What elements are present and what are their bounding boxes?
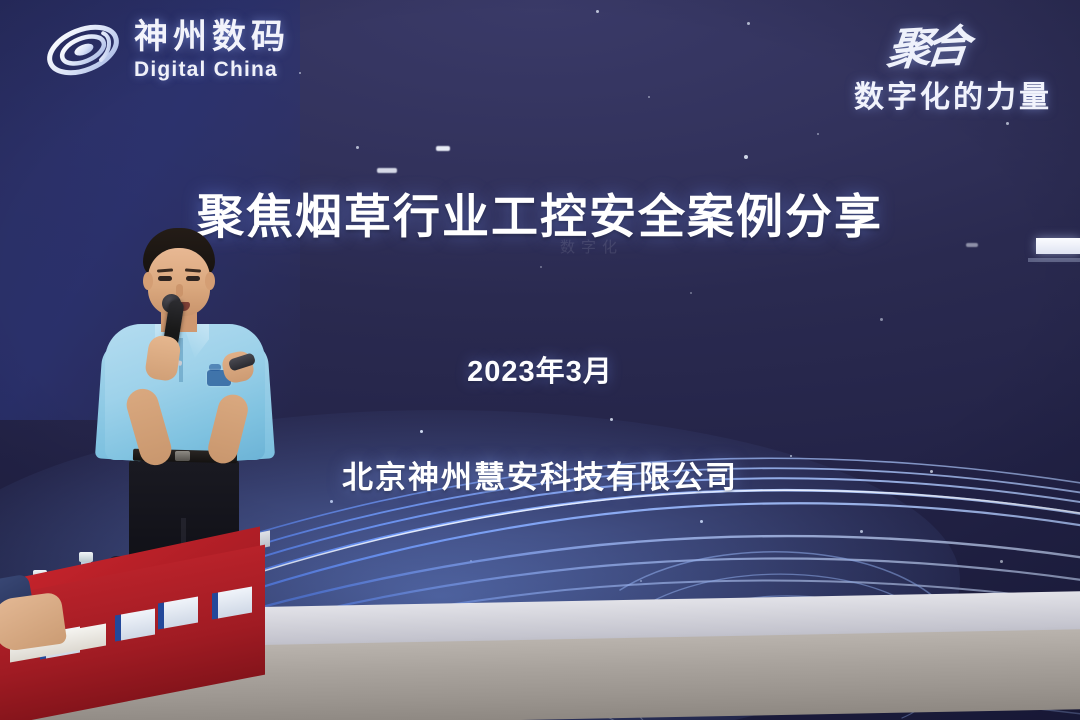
seated-attendee-hand [0, 591, 67, 652]
slide-watermark: 数字化 [560, 236, 623, 257]
event-slogan: 聚合 数字化的力量 [854, 12, 1052, 116]
screen-edge-highlight-bar-secondary [1028, 258, 1080, 262]
slogan-subtitle: 数字化的力量 [854, 72, 1052, 116]
speaker-belt-buckle [175, 451, 190, 461]
brand-name-cn: 神州数码 [134, 20, 290, 54]
digital-china-spiral-logo-icon [44, 16, 122, 84]
presentation-photo: 神州数码 Digital China 聚合 数字化的力量 聚焦烟草行业工控安全案… [0, 0, 1080, 720]
speaker-eye-right [186, 276, 200, 281]
slogan-calligraphy: 聚合 [884, 10, 967, 78]
speaker-eye-left [158, 276, 172, 281]
brand-logo: 神州数码 Digital China [44, 16, 290, 84]
speaker-polo-shirt [105, 324, 265, 460]
brand-name-en: Digital China [134, 59, 290, 80]
speaker-ear-left [143, 272, 153, 290]
speaker-ear-right [205, 272, 215, 290]
